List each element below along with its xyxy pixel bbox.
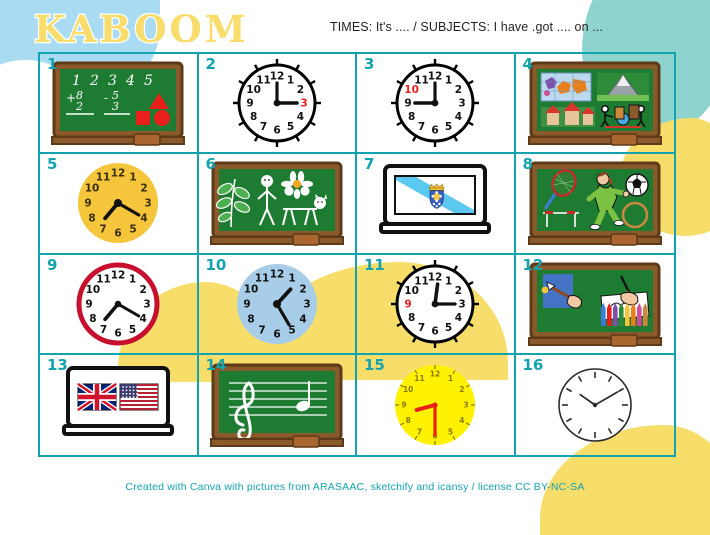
grid-cell-7[interactable]: 7 <box>357 154 516 254</box>
grid-cell-3[interactable]: 3 121234567891011 <box>357 54 516 154</box>
grid-cell-5[interactable]: 5 121234567891011 <box>40 154 199 254</box>
svg-text:12: 12 <box>428 271 443 283</box>
grid-cell-11[interactable]: 11 121234567891011 <box>357 255 516 355</box>
svg-text:6: 6 <box>273 125 280 137</box>
svg-text:10: 10 <box>403 385 413 394</box>
cell-number-label: 11 <box>364 257 385 274</box>
cell-number-label: 13 <box>47 357 68 374</box>
analog-clock-white-icon: 121234567891011 <box>357 54 514 152</box>
svg-text:+: + <box>66 91 76 105</box>
svg-text:4: 4 <box>459 416 464 425</box>
cell-number-label: 10 <box>206 257 227 274</box>
grid-cell-10[interactable]: 10 121234567891011 <box>199 255 358 355</box>
svg-text:8: 8 <box>247 313 254 325</box>
svg-text:3: 3 <box>459 98 466 110</box>
svg-text:2: 2 <box>299 283 306 295</box>
cell-number-label: 12 <box>523 257 544 274</box>
cell-number-label: 2 <box>206 56 216 73</box>
svg-text:4: 4 <box>455 111 462 123</box>
svg-text:2: 2 <box>140 284 147 296</box>
svg-text:11: 11 <box>414 275 429 287</box>
svg-text:5: 5 <box>448 427 453 436</box>
svg-text:12: 12 <box>111 269 126 281</box>
svg-text:5: 5 <box>129 323 136 335</box>
cell-number-label: 5 <box>47 156 57 173</box>
svg-text:2: 2 <box>455 84 462 96</box>
svg-text:7: 7 <box>260 121 267 133</box>
svg-text:6: 6 <box>115 228 122 240</box>
svg-text:1: 1 <box>445 275 452 287</box>
svg-text:9: 9 <box>86 298 93 310</box>
svg-text:12: 12 <box>430 369 440 378</box>
svg-text:9: 9 <box>402 400 407 409</box>
svg-text:9: 9 <box>246 98 253 110</box>
svg-text:1: 1 <box>288 272 295 284</box>
svg-text:5: 5 <box>288 324 295 336</box>
cell-number-label: 15 <box>364 357 385 374</box>
svg-text:4: 4 <box>296 111 303 123</box>
svg-text:12: 12 <box>269 268 284 280</box>
svg-text:9: 9 <box>85 198 92 210</box>
svg-text:5: 5 <box>144 73 153 89</box>
svg-text:6: 6 <box>115 327 122 339</box>
cell-number-label: 3 <box>364 56 374 73</box>
svg-text:3: 3 <box>303 298 310 310</box>
grid-cell-2[interactable]: 2 121234567891011 <box>199 54 358 154</box>
svg-text:2: 2 <box>455 285 462 297</box>
svg-text:7: 7 <box>100 323 107 335</box>
svg-text:1: 1 <box>448 374 453 383</box>
grid-cell-8[interactable]: 8 <box>516 154 675 254</box>
svg-text:9: 9 <box>405 298 412 310</box>
svg-text:4: 4 <box>125 73 135 89</box>
svg-text:2: 2 <box>89 73 99 89</box>
svg-text:2: 2 <box>459 385 464 394</box>
svg-text:8: 8 <box>406 416 411 425</box>
svg-text:7: 7 <box>100 224 107 236</box>
svg-text:8: 8 <box>250 111 257 123</box>
analog-clock-red-rim-icon: 121234567891011 <box>40 255 197 353</box>
page-title: KABOOM <box>34 7 249 51</box>
laptop-galician-flag-icon <box>357 154 514 252</box>
svg-text:9: 9 <box>243 298 250 310</box>
cell-number-label: 1 <box>47 56 57 73</box>
svg-text:2: 2 <box>296 84 303 96</box>
svg-text:10: 10 <box>86 284 101 296</box>
svg-text:12: 12 <box>428 71 443 83</box>
svg-text:3: 3 <box>300 98 307 110</box>
instructions-text: TIMES: It's .... / SUBJECTS: I have .got… <box>330 20 603 34</box>
svg-text:11: 11 <box>256 74 271 86</box>
grid-cell-13[interactable]: 13 <box>40 355 199 455</box>
grid-cell-9[interactable]: 9 121234567891011 <box>40 255 199 355</box>
svg-text:11: 11 <box>414 74 429 86</box>
cell-number-label: 4 <box>523 56 533 73</box>
grid-cell-16[interactable]: 16 <box>516 355 675 455</box>
svg-text:10: 10 <box>85 183 100 195</box>
svg-text:1: 1 <box>287 74 294 86</box>
svg-text:1: 1 <box>129 273 136 285</box>
grid-cell-12[interactable]: 12 <box>516 255 675 355</box>
svg-text:4: 4 <box>455 312 462 324</box>
svg-text:11: 11 <box>415 374 425 383</box>
svg-text:3: 3 <box>145 198 152 210</box>
svg-text:5: 5 <box>130 224 137 236</box>
svg-text:9: 9 <box>405 98 412 110</box>
svg-text:7: 7 <box>258 324 265 336</box>
geography-blackboard-icon <box>516 54 675 152</box>
svg-text:4: 4 <box>140 313 147 325</box>
svg-text:8: 8 <box>408 312 415 324</box>
cell-number-label: 8 <box>523 156 533 173</box>
svg-text:3: 3 <box>464 400 469 409</box>
cell-number-label: 16 <box>523 357 544 374</box>
svg-text:2: 2 <box>141 183 148 195</box>
svg-text:8: 8 <box>89 213 96 225</box>
pe-blackboard-icon <box>516 154 675 252</box>
svg-text:2: 2 <box>75 100 83 113</box>
svg-text:3: 3 <box>108 73 117 89</box>
svg-text:-: - <box>104 91 108 105</box>
svg-text:4: 4 <box>141 213 148 225</box>
svg-text:6: 6 <box>432 125 439 137</box>
page-header: KABOOM TIMES: It's .... / SUBJECTS: I ha… <box>0 0 710 52</box>
svg-text:1: 1 <box>445 74 452 86</box>
cell-number-label: 7 <box>364 156 374 173</box>
bingo-grid: 1 12345 + 8 2 - 5 3 2 121234567891011 <box>38 52 676 457</box>
svg-text:10: 10 <box>243 283 258 295</box>
svg-text:4: 4 <box>299 313 306 325</box>
footer-credit: Created with Canva with pictures from AR… <box>0 481 710 493</box>
svg-text:6: 6 <box>432 325 439 337</box>
grid-cell-4[interactable]: 4 <box>516 54 675 154</box>
svg-text:7: 7 <box>417 427 422 436</box>
svg-text:6: 6 <box>273 328 280 340</box>
svg-text:11: 11 <box>96 172 111 184</box>
grid-cell-15[interactable]: 15 121234567891011 <box>357 355 516 455</box>
svg-text:11: 11 <box>254 272 269 284</box>
cell-number-label: 14 <box>206 357 227 374</box>
grid-cell-14[interactable]: 14 <box>199 355 358 455</box>
svg-text:12: 12 <box>269 71 284 83</box>
cell-number-label: 9 <box>47 257 57 274</box>
svg-text:5: 5 <box>287 121 294 133</box>
grid-cell-6[interactable]: 6 <box>199 154 358 254</box>
cell-number-label: 6 <box>206 156 216 173</box>
maths-blackboard-icon: 12345 + 8 2 - 5 3 <box>40 54 197 152</box>
science-blackboard-icon <box>199 154 356 252</box>
svg-text:3: 3 <box>144 298 151 310</box>
svg-text:3: 3 <box>112 100 119 113</box>
svg-text:8: 8 <box>408 111 415 123</box>
svg-text:8: 8 <box>89 313 96 325</box>
svg-text:12: 12 <box>111 168 126 180</box>
svg-text:7: 7 <box>418 121 425 133</box>
svg-text:1: 1 <box>130 172 137 184</box>
svg-text:1: 1 <box>72 73 81 89</box>
analog-clock-white-icon: 121234567891011 <box>199 54 356 152</box>
analog-clock-yellow-icon: 121234567891011 <box>40 154 197 252</box>
grid-cell-1[interactable]: 1 12345 + 8 2 - 5 3 <box>40 54 199 154</box>
svg-text:3: 3 <box>459 298 466 310</box>
svg-text:5: 5 <box>445 322 452 334</box>
svg-text:7: 7 <box>418 322 425 334</box>
svg-text:5: 5 <box>445 121 452 133</box>
svg-text:11: 11 <box>96 273 111 285</box>
